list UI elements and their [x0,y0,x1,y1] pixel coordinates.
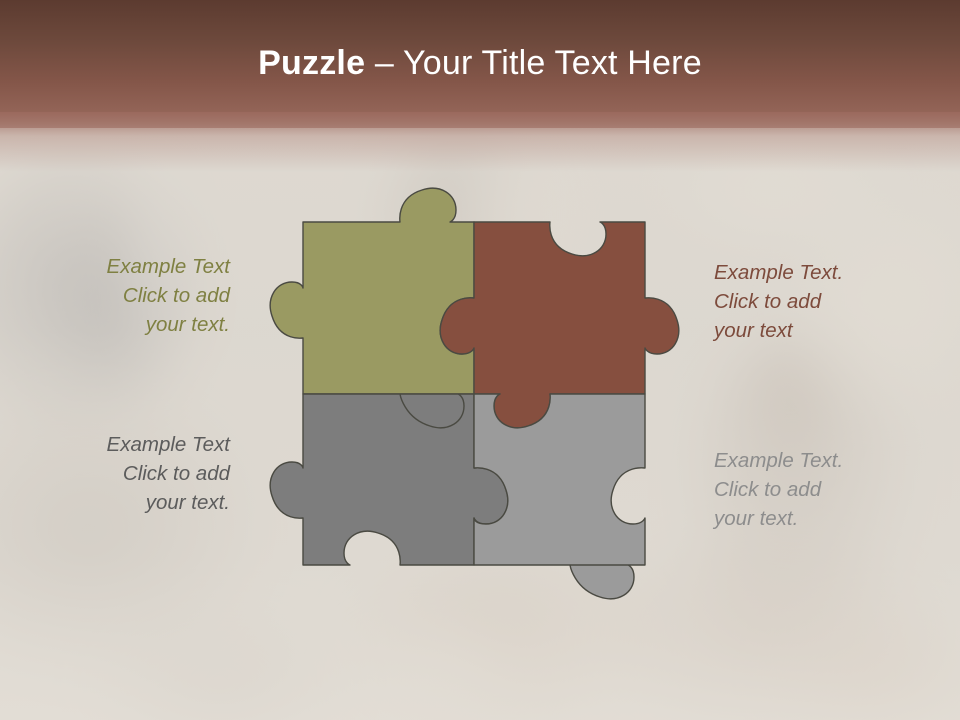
puzzle-graphic [250,168,700,618]
caption-bottom-right[interactable]: Example Text. Click to add your text. [714,446,934,533]
puzzle-piece-bottom-left[interactable] [270,394,508,565]
caption-top-left[interactable]: Example Text Click to add your text. [40,252,230,339]
page-title-strong: Puzzle [258,44,365,82]
slide-canvas: Puzzle – Your Title Text Here Example Te… [0,0,960,720]
page-title: Puzzle – Your Title Text Here [0,44,960,83]
page-title-rest: – Your Title Text Here [365,44,702,82]
caption-top-right[interactable]: Example Text. Click to add your text [714,258,934,345]
puzzle-piece-top-left[interactable] [270,188,474,428]
title-band-fade [0,112,960,172]
caption-bottom-left[interactable]: Example Text Click to add your text. [40,430,230,517]
